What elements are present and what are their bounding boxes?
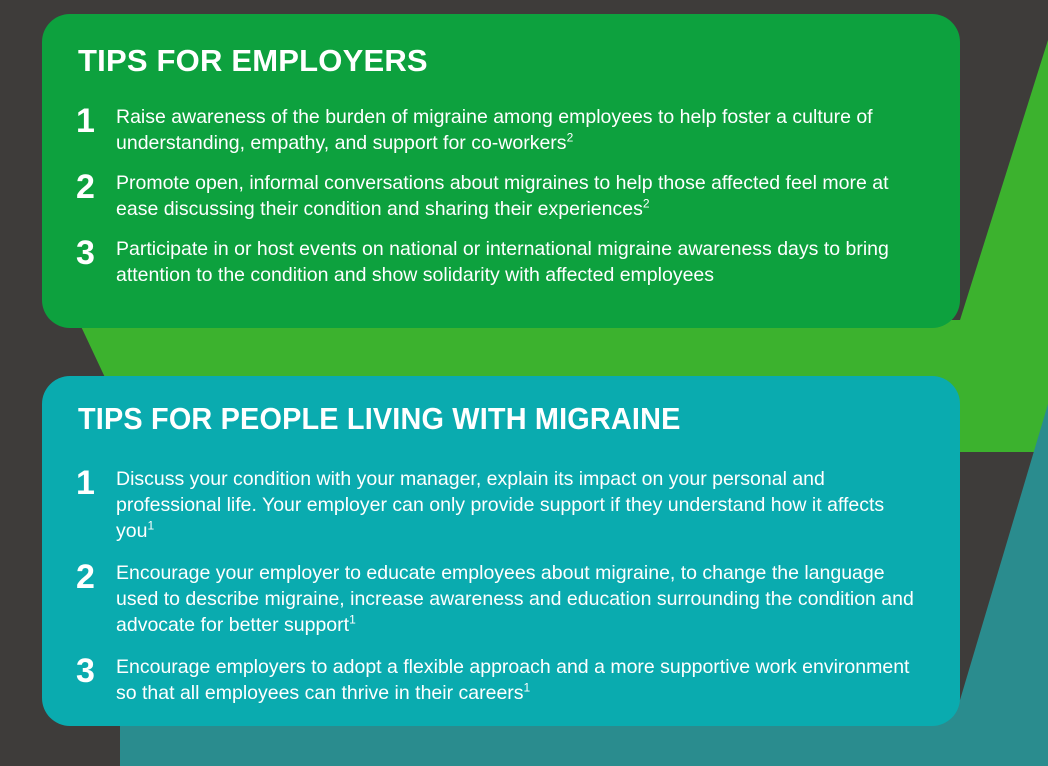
card-tips-for-people-living-with-migraine: TIPS FOR PEOPLE LIVING WITH MIGRAINE 1 D… [42, 376, 960, 726]
tip-text: Promote open, informal conversations abo… [116, 170, 926, 222]
tip-reference: 1 [147, 519, 154, 533]
tip-reference: 2 [567, 131, 574, 145]
card-title-living-with-migraine: TIPS FOR PEOPLE LIVING WITH MIGRAINE [78, 402, 867, 436]
infographic-canvas: TIPS FOR EMPLOYERS 1 Raise awareness of … [0, 0, 1048, 766]
tip-list-employers: 1 Raise awareness of the burden of migra… [76, 104, 926, 288]
tip-body: Promote open, informal conversations abo… [116, 172, 889, 220]
tip-text: Participate in or host events on nationa… [116, 236, 926, 288]
card-tips-for-employers: TIPS FOR EMPLOYERS 1 Raise awareness of … [42, 14, 960, 328]
tip-number: 3 [76, 236, 116, 268]
tip-body: Discuss your condition with your manager… [116, 468, 884, 542]
tip-number: 3 [76, 654, 116, 686]
tip-item: 1 Discuss your condition with your manag… [76, 466, 926, 544]
tip-number: 1 [76, 104, 116, 136]
tip-reference: 2 [643, 197, 650, 211]
tip-number: 2 [76, 170, 116, 202]
tip-reference: 1 [349, 613, 356, 627]
tip-item: 2 Promote open, informal conversations a… [76, 170, 926, 222]
tip-body: Encourage employers to adopt a flexible … [116, 656, 909, 704]
tip-reference: 1 [524, 681, 531, 695]
tip-body: Raise awareness of the burden of migrain… [116, 106, 873, 154]
tip-text: Raise awareness of the burden of migrain… [116, 104, 926, 156]
card-title-employers: TIPS FOR EMPLOYERS [78, 44, 926, 78]
tip-number: 2 [76, 560, 116, 592]
tip-number: 1 [76, 466, 116, 498]
tip-item: 3 Encourage employers to adopt a flexibl… [76, 654, 926, 706]
tip-text: Encourage your employer to educate emplo… [116, 560, 926, 638]
tip-text: Encourage employers to adopt a flexible … [116, 654, 926, 706]
tip-body: Participate in or host events on nationa… [116, 238, 889, 286]
tip-item: 3 Participate in or host events on natio… [76, 236, 926, 288]
tip-body: Encourage your employer to educate emplo… [116, 562, 914, 636]
tip-text: Discuss your condition with your manager… [116, 466, 926, 544]
tip-item: 2 Encourage your employer to educate emp… [76, 560, 926, 638]
tip-list-living-with-migraine: 1 Discuss your condition with your manag… [76, 466, 926, 706]
tip-item: 1 Raise awareness of the burden of migra… [76, 104, 926, 156]
